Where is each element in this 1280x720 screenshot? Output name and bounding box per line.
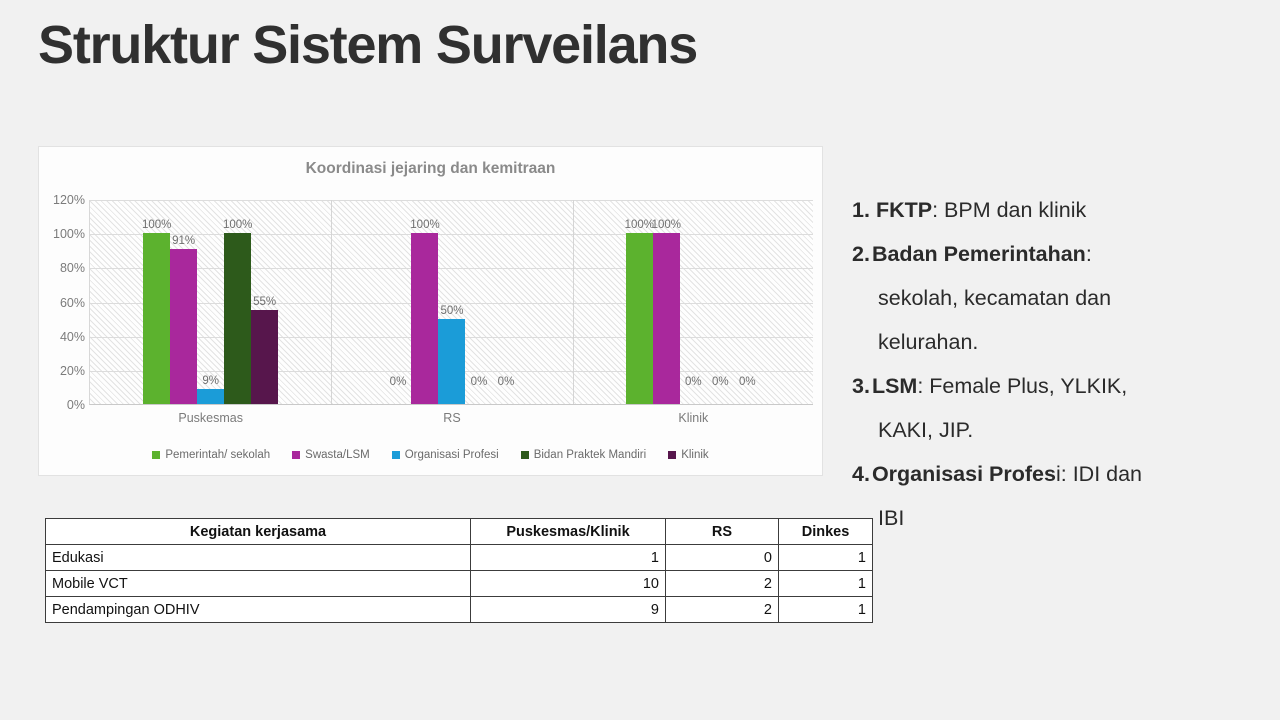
y-axis-tick: 80% xyxy=(60,261,85,275)
chart-bar-slot: 55% xyxy=(251,200,278,404)
table-header-puskesmas: Puskesmas/Klinik xyxy=(471,519,666,545)
chart-bar-value-label: 0% xyxy=(712,376,729,388)
chart-bars: 100%100%0%0%0% xyxy=(573,200,814,404)
chart-bar-value-label: 0% xyxy=(390,376,407,388)
table-cell-puskesmas: 10 xyxy=(471,571,666,597)
chart-bars: 100%91%9%100%55% xyxy=(90,200,331,404)
note-item: 4.Organisasi Profesi: IDI dan xyxy=(852,452,1254,496)
chart-bar-value-label: 0% xyxy=(739,376,756,388)
chart-bar-slot: 0% xyxy=(465,200,492,404)
chart-legend: Pemerintah/ sekolahSwasta/LSMOrganisasi … xyxy=(39,449,822,461)
legend-swatch-icon xyxy=(668,451,676,459)
table-cell-kegiatan: Edukasi xyxy=(46,545,471,571)
chart-bar-slot: 100% xyxy=(411,200,438,404)
chart-bar-value-label: 50% xyxy=(440,305,463,317)
chart-bar-value-label: 100% xyxy=(410,219,439,231)
note-continuation: sekolah, kecamatan dan xyxy=(852,276,1254,320)
note-continuation: kelurahan. xyxy=(852,320,1254,364)
legend-label: Bidan Praktek Mandiri xyxy=(534,449,647,461)
kegiatan-kerjasama-table: Kegiatan kerjasama Puskesmas/Klinik RS D… xyxy=(45,518,873,623)
table-cell-kegiatan: Pendampingan ODHIV xyxy=(46,597,471,623)
chart-bar-value-label: 100% xyxy=(142,219,171,231)
chart-category-label: Klinik xyxy=(573,404,814,425)
note-detail: : xyxy=(1086,242,1092,266)
chart-bar[interactable]: 9% xyxy=(197,389,224,404)
note-continuation: IBI xyxy=(852,496,1254,540)
chart-bar-value-label: 55% xyxy=(253,296,276,308)
notes-list: 1.FKTP: BPM dan klinik2.Badan Pemerintah… xyxy=(852,188,1254,540)
chart-bar[interactable]: 100% xyxy=(411,233,438,404)
note-number: 4. xyxy=(852,452,872,496)
chart-bar-value-label: 91% xyxy=(172,235,195,247)
chart-plot-area: 100%91%9%100%55%Puskesmas0%100%50%0%0%RS… xyxy=(89,200,813,405)
note-term: FKTP xyxy=(876,198,932,222)
note-number: 1. xyxy=(852,188,876,232)
table-cell-kegiatan: Mobile VCT xyxy=(46,571,471,597)
chart-bar-slot: 100% xyxy=(626,200,653,404)
legend-item[interactable]: Organisasi Profesi xyxy=(392,449,499,461)
table-header-row: Kegiatan kerjasama Puskesmas/Klinik RS D… xyxy=(46,519,873,545)
chart-bar[interactable]: 100% xyxy=(653,233,680,404)
chart-bar-value-label: 100% xyxy=(223,219,252,231)
chart-bar-slot: 100% xyxy=(653,200,680,404)
chart-bar-value-label: 0% xyxy=(685,376,702,388)
note-item: 1.FKTP: BPM dan klinik xyxy=(852,188,1254,232)
chart-bar[interactable]: 55% xyxy=(251,310,278,404)
chart-bar[interactable]: 100% xyxy=(626,233,653,404)
y-axis-tick: 40% xyxy=(60,330,85,344)
legend-item[interactable]: Pemerintah/ sekolah xyxy=(152,449,270,461)
chart-y-axis: 0%20%40%60%80%100%120% xyxy=(39,195,87,405)
chart-title: Koordinasi jejaring dan kemitraan xyxy=(39,160,822,178)
legend-swatch-icon xyxy=(292,451,300,459)
chart-bar-slot: 9% xyxy=(197,200,224,404)
y-axis-tick: 120% xyxy=(53,193,85,207)
page-title: Struktur Sistem Surveilans xyxy=(38,14,697,76)
legend-swatch-icon xyxy=(521,451,529,459)
y-axis-tick: 20% xyxy=(60,364,85,378)
table-cell-dinkes: 1 xyxy=(779,545,873,571)
note-text: Organisasi Profesi: IDI dan xyxy=(872,452,1254,496)
chart-bar[interactable]: 100% xyxy=(224,233,251,404)
chart-bar[interactable]: 100% xyxy=(143,233,170,404)
y-axis-tick: 100% xyxy=(53,227,85,241)
chart-bar-slot: 100% xyxy=(143,200,170,404)
table-cell-dinkes: 1 xyxy=(779,597,873,623)
note-detail: : Female Plus, YLKIK, xyxy=(917,374,1127,398)
chart-bar[interactable]: 91% xyxy=(170,249,197,404)
note-item: 3.LSM: Female Plus, YLKIK, xyxy=(852,364,1254,408)
table-cell-dinkes: 1 xyxy=(779,571,873,597)
note-term: Badan Pemerintahan xyxy=(872,242,1086,266)
chart-bar-value-label: 0% xyxy=(471,376,488,388)
y-axis-tick: 0% xyxy=(67,398,85,412)
chart-bar-slot: 0% xyxy=(734,200,761,404)
chart-bar-value-label: 0% xyxy=(498,376,515,388)
chart-bar-slot: 0% xyxy=(492,200,519,404)
legend-label: Organisasi Profesi xyxy=(405,449,499,461)
table-header-kegiatan: Kegiatan kerjasama xyxy=(46,519,471,545)
y-axis-tick: 60% xyxy=(60,296,85,310)
table-cell-rs: 2 xyxy=(666,571,779,597)
table-row: Edukasi101 xyxy=(46,545,873,571)
note-text: FKTP: BPM dan klinik xyxy=(876,188,1254,232)
note-text: LSM: Female Plus, YLKIK, xyxy=(872,364,1254,408)
table-cell-rs: 2 xyxy=(666,597,779,623)
note-term: LSM xyxy=(872,374,917,398)
table-header-rs: RS xyxy=(666,519,779,545)
note-detail: i: IDI dan xyxy=(1056,462,1142,486)
chart-bar-slot: 0% xyxy=(707,200,734,404)
chart-bar[interactable]: 50% xyxy=(438,319,465,404)
chart-bar-value-label: 9% xyxy=(202,375,219,387)
chart-bar-value-label: 100% xyxy=(652,219,681,231)
legend-item[interactable]: Bidan Praktek Mandiri xyxy=(521,449,647,461)
note-continuation: KAKI, JIP. xyxy=(852,408,1254,452)
chart-bar-slot: 0% xyxy=(384,200,411,404)
legend-label: Swasta/LSM xyxy=(305,449,370,461)
note-number: 3. xyxy=(852,364,872,408)
note-detail: : BPM dan klinik xyxy=(932,198,1086,222)
chart-bar-value-label: 100% xyxy=(625,219,654,231)
legend-item[interactable]: Swasta/LSM xyxy=(292,449,370,461)
chart-panel: Koordinasi jejaring dan kemitraan 0%20%4… xyxy=(38,146,823,476)
chart-category-label: RS xyxy=(331,404,572,425)
chart-bar-slot: 100% xyxy=(224,200,251,404)
chart-bars: 0%100%50%0%0% xyxy=(331,200,572,404)
note-text: Badan Pemerintahan: xyxy=(872,232,1254,276)
legend-swatch-icon xyxy=(152,451,160,459)
chart-bar-slot: 91% xyxy=(170,200,197,404)
table-row: Pendampingan ODHIV921 xyxy=(46,597,873,623)
note-item: 2.Badan Pemerintahan: xyxy=(852,232,1254,276)
chart-group-rs: 0%100%50%0%0%RS xyxy=(331,200,572,404)
table-body: Edukasi101Mobile VCT1021Pendampingan ODH… xyxy=(46,545,873,623)
legend-label: Pemerintah/ sekolah xyxy=(165,449,270,461)
legend-swatch-icon xyxy=(392,451,400,459)
table-cell-puskesmas: 1 xyxy=(471,545,666,571)
table-cell-puskesmas: 9 xyxy=(471,597,666,623)
chart-bar-slot: 50% xyxy=(438,200,465,404)
table-row: Mobile VCT1021 xyxy=(46,571,873,597)
legend-item[interactable]: Klinik xyxy=(668,449,708,461)
chart-bar-slot: 0% xyxy=(680,200,707,404)
chart-category-label: Puskesmas xyxy=(90,404,331,425)
note-number: 2. xyxy=(852,232,872,276)
note-term: Organisasi Profes xyxy=(872,462,1056,486)
table-cell-rs: 0 xyxy=(666,545,779,571)
chart-group-puskesmas: 100%91%9%100%55%Puskesmas xyxy=(90,200,331,404)
chart-group-klinik: 100%100%0%0%0%Klinik xyxy=(573,200,814,404)
legend-label: Klinik xyxy=(681,449,708,461)
